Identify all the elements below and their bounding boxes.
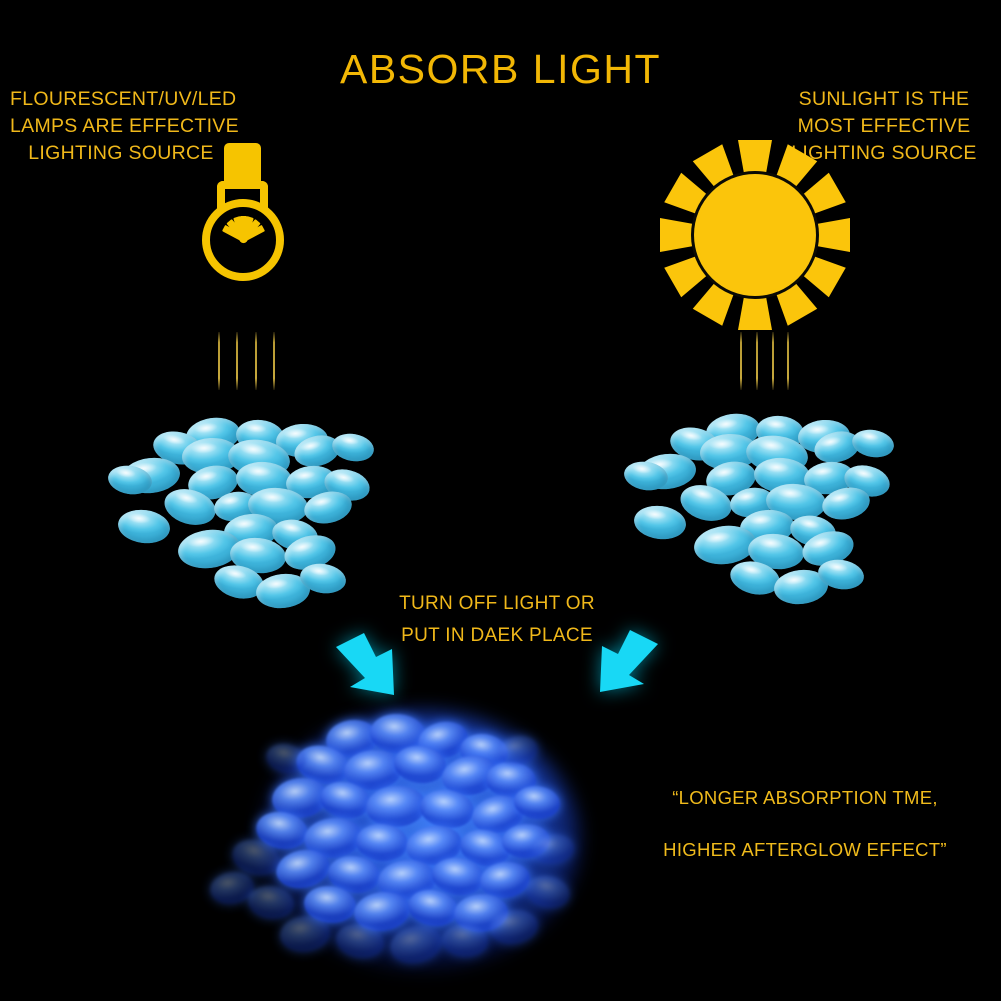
stone: [850, 427, 896, 461]
caption-right-line-2: MOST EFFECTIVE: [773, 113, 995, 140]
glowing-stone-pile: [180, 700, 640, 1000]
sun-disc-icon: [694, 174, 816, 296]
quote-line-2: HIGHER AFTERGLOW EFFECT”: [640, 824, 970, 876]
light-bulb-icon: [152, 143, 332, 328]
caption-middle-line-1: TURN OFF LIGHT OR: [352, 588, 642, 620]
quote-line-1: “LONGER ABSORPTION TME,: [640, 772, 970, 824]
sun-icon: [660, 140, 850, 330]
caption-left-line-1: FLOURESCENT/UV/LED: [10, 86, 232, 113]
stone-cluster-left: [108, 418, 373, 623]
quote-text: “LONGER ABSORPTION TME, HIGHER AFTERGLOW…: [640, 772, 970, 876]
infographic-canvas: ABSORB LIGHT FLOURESCENT/UV/LED LAMPS AR…: [0, 0, 1001, 1001]
light-beam-lines-right: [740, 332, 788, 390]
stone: [632, 503, 688, 542]
caption-left-line-2: LAMPS ARE EFFECTIVE: [10, 113, 232, 140]
stone-cluster-right: [622, 414, 892, 619]
stone: [116, 507, 172, 546]
stone: [330, 431, 376, 465]
light-beam-lines-left: [218, 332, 276, 390]
caption-right-line-1: SUNLIGHT IS THE: [773, 86, 995, 113]
